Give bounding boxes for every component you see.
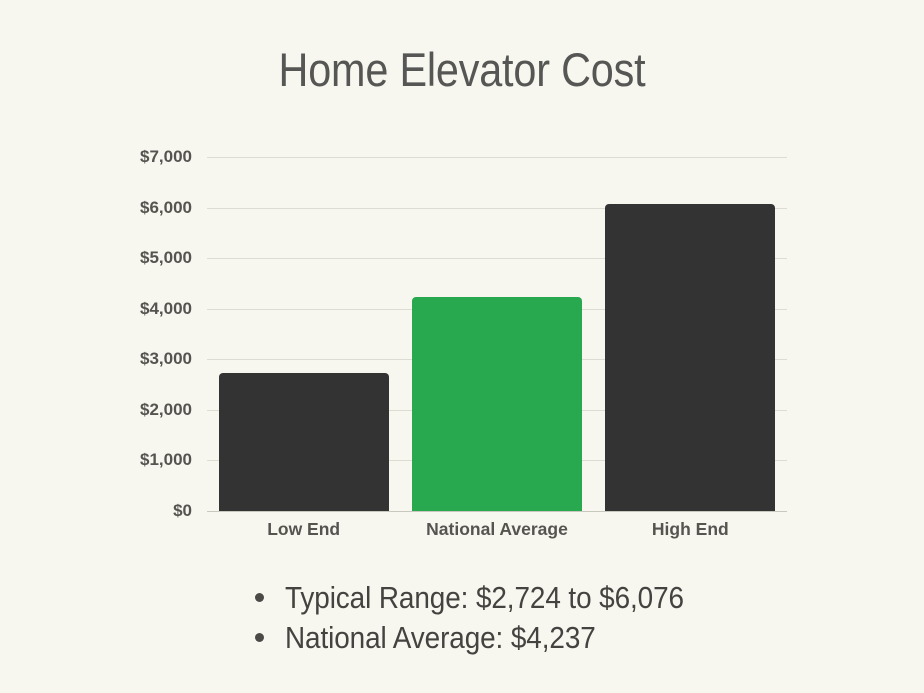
- list-item-label: Typical Range: $2,724 to $6,076: [285, 580, 684, 616]
- list-item: Typical Range: $2,724 to $6,076: [255, 580, 875, 616]
- bullet-icon: [255, 633, 264, 642]
- y-axis-tick-label: $4,000: [100, 299, 192, 319]
- bar: [219, 373, 389, 511]
- y-axis-tick-label: $7,000: [100, 147, 192, 167]
- list-item-label: National Average: $4,237: [285, 620, 596, 656]
- y-axis-tick-label: $2,000: [100, 400, 192, 420]
- bar-series: [207, 157, 787, 511]
- x-axis-tick-label: High End: [594, 519, 787, 540]
- x-axis-tick-label: National Average: [400, 519, 593, 540]
- infographic-canvas: Home Elevator Cost $0$1,000$2,000$3,000$…: [0, 0, 924, 693]
- chart-title: Home Elevator Cost: [55, 42, 868, 97]
- y-axis-tick-label: $0: [100, 501, 192, 521]
- plot-area: [207, 157, 787, 511]
- list-item: National Average: $4,237: [255, 620, 875, 656]
- y-axis-tick-label: $6,000: [100, 198, 192, 218]
- y-axis: $0$1,000$2,000$3,000$4,000$5,000$6,000$7…: [100, 157, 192, 511]
- gridline: [207, 511, 787, 512]
- x-axis: Low EndNational AverageHigh End: [207, 519, 787, 549]
- bar: [412, 297, 582, 511]
- y-axis-tick-label: $5,000: [100, 248, 192, 268]
- y-axis-tick-label: $3,000: [100, 349, 192, 369]
- bar: [605, 204, 775, 511]
- notes-list: Typical Range: $2,724 to $6,076National …: [255, 580, 875, 660]
- y-axis-tick-label: $1,000: [100, 450, 192, 470]
- x-axis-tick-label: Low End: [207, 519, 400, 540]
- bullet-icon: [255, 593, 264, 602]
